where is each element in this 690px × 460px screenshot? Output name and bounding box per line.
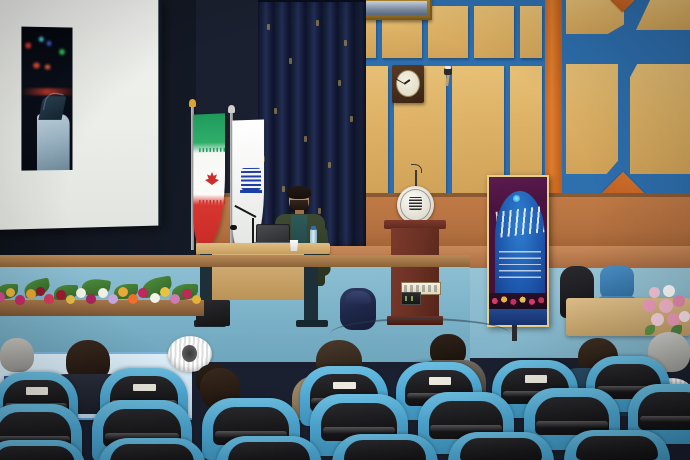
chair-backrest <box>600 266 634 300</box>
seat-headrest <box>228 442 311 460</box>
seat[interactable] <box>98 438 206 460</box>
seat-highlight <box>536 421 607 427</box>
banner-heading-calligraphy <box>496 206 545 237</box>
slide-light <box>45 65 51 70</box>
seat-tag <box>26 387 48 395</box>
bottle-cap <box>311 226 316 230</box>
wall-clock <box>392 65 424 103</box>
mic-head <box>230 225 237 230</box>
seat-headrest <box>344 440 427 460</box>
emblem-glyph-icon <box>409 197 422 210</box>
wall-panel-geometric <box>630 64 690 174</box>
curtain-rail <box>258 0 366 2</box>
framed-picture <box>358 0 432 20</box>
welcome-banner <box>487 175 549 327</box>
seat-headrest <box>638 392 690 429</box>
backpack-flap <box>345 291 371 304</box>
mic-gooseneck <box>411 164 422 173</box>
seat[interactable] <box>0 440 86 460</box>
wall-panel <box>520 6 542 58</box>
seat-highlight <box>430 425 501 431</box>
slide-photo <box>21 27 72 171</box>
banner-footer <box>489 309 547 325</box>
desk-top <box>196 243 330 254</box>
institution-logo-icon <box>241 168 261 190</box>
slide-light <box>39 37 44 42</box>
screen-edge <box>158 0 162 226</box>
seat-headrest <box>576 436 659 460</box>
institution-logo-base <box>240 190 262 193</box>
flag-emblem-icon <box>205 172 219 185</box>
clock-face <box>396 70 420 97</box>
presenter-hair <box>287 186 311 199</box>
seat-headrest <box>460 438 543 460</box>
framed-picture-artwork <box>363 1 427 15</box>
slide-light <box>33 62 40 68</box>
banner-flower-border <box>489 293 547 309</box>
seat-tag <box>429 377 451 385</box>
seat[interactable] <box>332 434 438 460</box>
flag-iran <box>189 104 225 250</box>
seat[interactable] <box>216 436 322 460</box>
flag-cloth <box>193 113 225 244</box>
camera-body <box>444 68 452 75</box>
flag-finial <box>189 99 196 107</box>
seat-tag <box>333 382 356 390</box>
laptop-screen <box>256 224 290 243</box>
desk-foot-right <box>296 320 328 327</box>
seat-highlight <box>640 416 690 422</box>
pink-flower-vase <box>641 285 690 337</box>
security-camera-icon <box>444 68 452 77</box>
wall-outlet <box>401 292 421 305</box>
flag-finial <box>228 105 235 113</box>
slide-light <box>47 41 52 46</box>
seat-tag <box>133 384 156 392</box>
slide-light <box>25 43 31 49</box>
banner-body-text <box>499 249 541 283</box>
turban-center <box>182 345 197 362</box>
slide-road-glow <box>21 88 72 95</box>
stage-riser-face <box>0 255 470 267</box>
camera-cap <box>445 66 451 69</box>
flower-arrangement <box>0 276 204 316</box>
audience-head-grey <box>0 338 34 372</box>
seat-headrest <box>0 446 75 460</box>
conference-hall-photo <box>0 0 690 460</box>
seat-headrest <box>110 444 194 460</box>
seat-highlight <box>323 427 396 433</box>
banner-stand-leg <box>512 325 517 341</box>
wall-panel-geometric <box>566 64 618 174</box>
podium-emblem <box>397 186 434 224</box>
banner-jewel-icon <box>513 195 520 202</box>
outlet-slots <box>405 296 417 301</box>
wall-panel <box>428 6 468 58</box>
wall-panel <box>474 6 514 58</box>
slide-car-body <box>37 114 70 171</box>
seat[interactable] <box>448 432 554 460</box>
seat[interactable] <box>564 430 670 460</box>
flag-kufic-band-top <box>199 148 227 153</box>
projection-screen <box>0 0 159 230</box>
seat-tag <box>525 375 547 383</box>
nameplate-text <box>404 285 438 292</box>
slide-light <box>59 49 65 55</box>
flag-kufic-band-bottom <box>199 200 227 204</box>
